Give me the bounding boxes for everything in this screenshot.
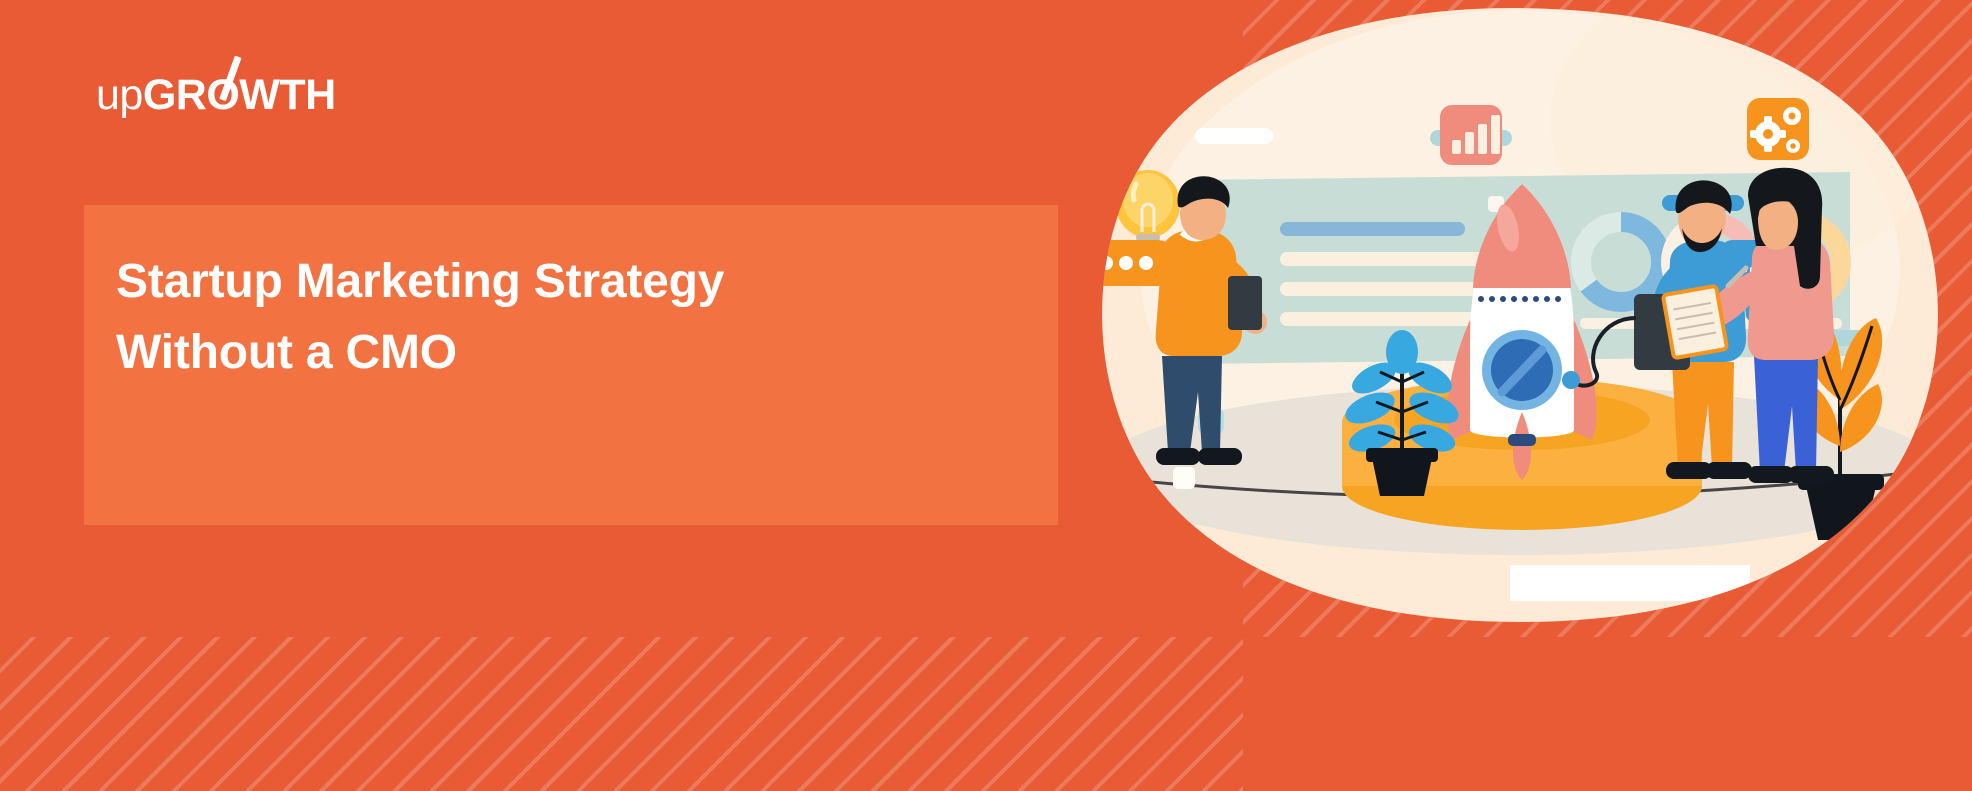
blog-banner: up GROWTH Startup Marketing Strategy Wit…: [0, 0, 1972, 791]
hero-illustration: [1050, 0, 1972, 640]
page-title-line-2: Without a CMO: [116, 317, 856, 388]
page-title-line-1: Startup Marketing Strategy: [116, 246, 856, 317]
decor-square-white: [1173, 467, 1195, 489]
logo-text-up: up: [96, 74, 143, 117]
upgrowth-logo[interactable]: up GROWTH: [96, 74, 336, 126]
clipboard: [1663, 286, 1727, 358]
page-title: Startup Marketing Strategy Without a CMO: [116, 246, 856, 388]
logo-text-growth: GROWTH: [143, 74, 336, 117]
gear-icon: [1747, 98, 1809, 160]
illustration-blob: [1050, 0, 1972, 640]
bottom-white-card: [1510, 565, 1750, 601]
diagonal-stripe-pattern-bottom: [0, 637, 1243, 791]
decor-pill-white: [1195, 128, 1273, 144]
bar-chart-icon: [1440, 105, 1502, 165]
solid-block-bottom-right: [1243, 637, 1972, 791]
